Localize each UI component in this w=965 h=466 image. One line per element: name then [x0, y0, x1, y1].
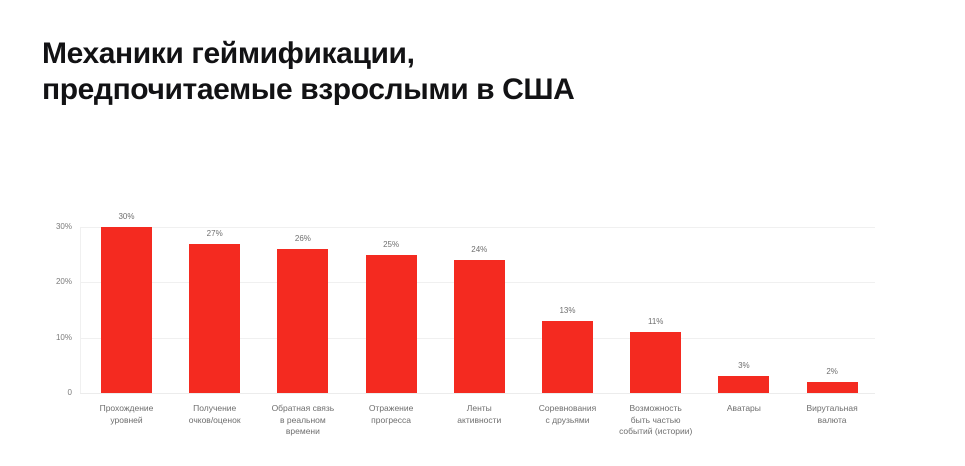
x-axis-line — [80, 393, 875, 394]
x-axis-category-label: Соревнования с друзьями — [520, 403, 616, 426]
y-axis-tick-label: 20% — [42, 278, 72, 286]
x-axis-category-label: Обратная связь в реальном времени — [255, 403, 351, 438]
x-axis-category-label: Аватары — [696, 403, 792, 415]
bar[interactable] — [630, 332, 681, 393]
y-axis-line — [80, 227, 81, 393]
bar-value-label: 24% — [449, 246, 509, 254]
gridline — [80, 227, 875, 228]
bar-value-label: 3% — [714, 362, 774, 370]
x-axis-category-label: Возможность быть частью событий (истории… — [608, 403, 704, 438]
bar-chart: 010%20%30% 30%27%26%25%24%13%11%3%2% Про… — [0, 0, 965, 466]
y-axis-tick-label: 0 — [42, 389, 72, 397]
chart-page: Механики геймификации, предпочитаемые вз… — [0, 0, 965, 466]
bar[interactable] — [807, 382, 858, 393]
bar[interactable] — [277, 249, 328, 393]
bar-value-label: 2% — [802, 368, 862, 376]
bar[interactable] — [366, 255, 417, 393]
x-axis-category-label: Вирутальная валюта — [784, 403, 880, 426]
x-axis-category-label: Отражение прогресса — [343, 403, 439, 426]
bar-value-label: 25% — [361, 241, 421, 249]
x-axis-category-label: Получение очков/оценок — [167, 403, 263, 426]
bar[interactable] — [101, 227, 152, 393]
x-axis-category-label: Ленты активности — [431, 403, 527, 426]
bar-value-label: 13% — [538, 307, 598, 315]
bar-value-label: 30% — [97, 213, 157, 221]
bar-value-label: 27% — [185, 230, 245, 238]
bar[interactable] — [542, 321, 593, 393]
bar[interactable] — [189, 244, 240, 393]
x-axis-category-label: Прохождение уровней — [79, 403, 175, 426]
bar[interactable] — [718, 376, 769, 393]
bar-value-label: 11% — [626, 318, 686, 326]
y-axis-tick-label: 10% — [42, 334, 72, 342]
bar[interactable] — [454, 260, 505, 393]
y-axis-tick-label: 30% — [42, 223, 72, 231]
bar-value-label: 26% — [273, 235, 333, 243]
